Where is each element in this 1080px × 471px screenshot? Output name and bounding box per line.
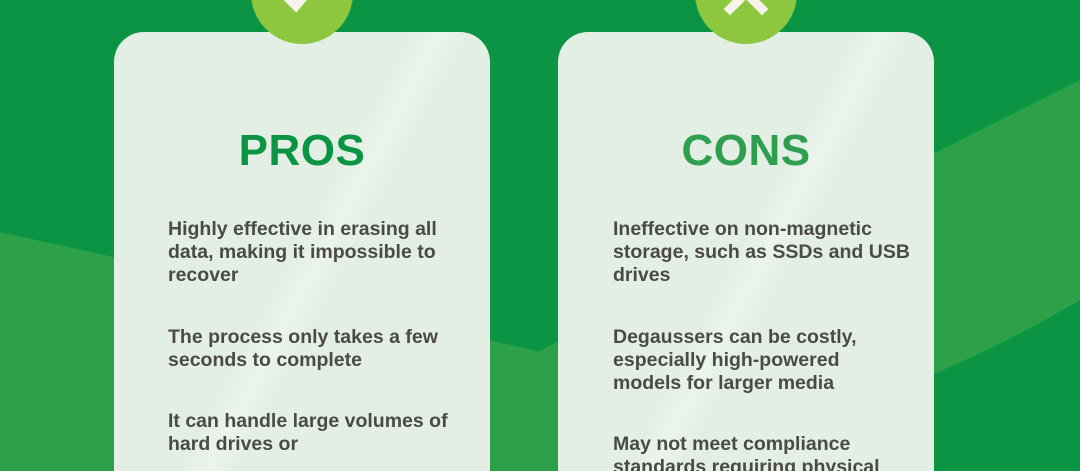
cons-list: Ineffective on non-magnetic storage, suc…: [613, 218, 913, 471]
cons-title: CONS: [558, 126, 934, 176]
list-item: Degaussers can be costly, especially hig…: [613, 326, 913, 396]
list-item: The process only takes a few seconds to …: [168, 326, 468, 372]
list-item: Highly effective in erasing all data, ma…: [168, 218, 468, 288]
list-item: It can handle large volumes of hard driv…: [168, 410, 468, 456]
list-item: May not meet compliance standards requir…: [613, 433, 913, 471]
pros-title: PROS: [114, 126, 490, 176]
list-item: Ineffective on non-magnetic storage, suc…: [613, 218, 913, 288]
pros-list: Highly effective in erasing all data, ma…: [168, 218, 468, 456]
